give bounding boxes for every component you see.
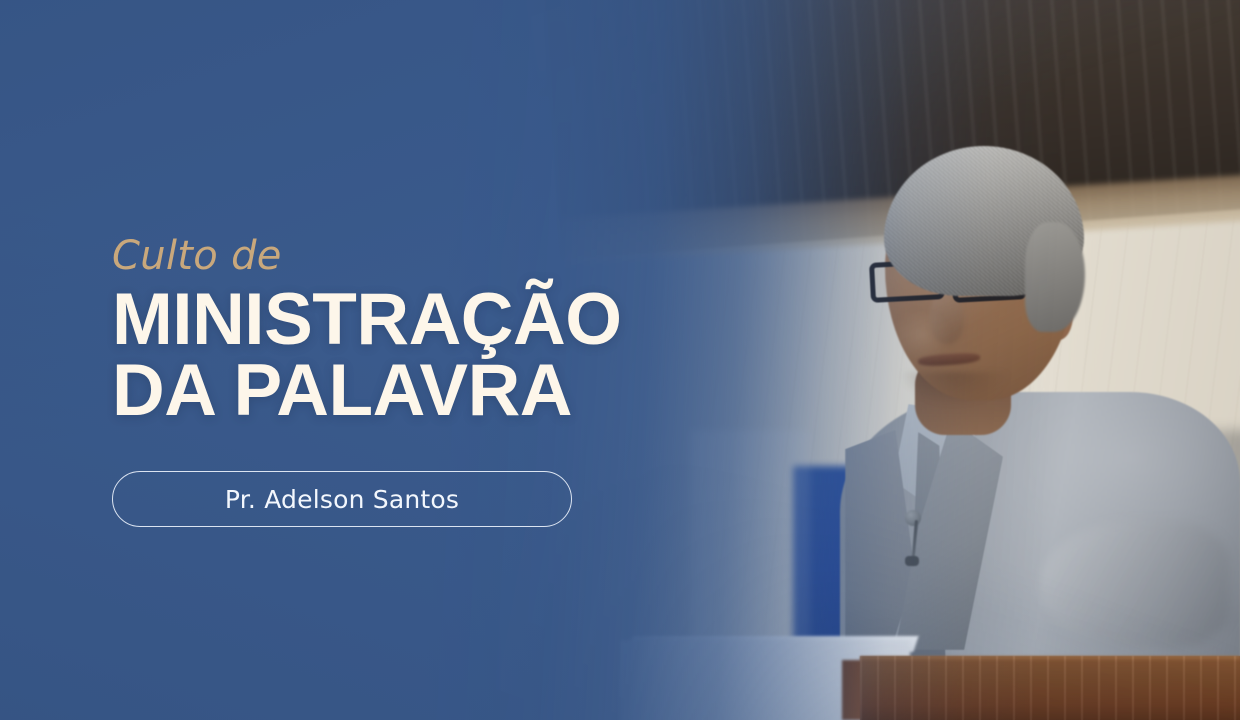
eyebrow-text: Culto de	[112, 236, 752, 276]
event-banner: Culto de MINISTRAÇÃO DA PALAVRA Pr. Adel…	[0, 0, 1240, 720]
page-title: MINISTRAÇÃO DA PALAVRA	[112, 286, 752, 424]
banner-content: Culto de MINISTRAÇÃO DA PALAVRA Pr. Adel…	[112, 236, 752, 527]
headline-line-1: MINISTRAÇÃO	[112, 279, 622, 360]
headline-line-2: DA PALAVRA	[112, 357, 752, 424]
speaker-name-pill[interactable]: Pr. Adelson Santos	[112, 471, 572, 527]
speaker-name-label: Pr. Adelson Santos	[225, 485, 459, 514]
